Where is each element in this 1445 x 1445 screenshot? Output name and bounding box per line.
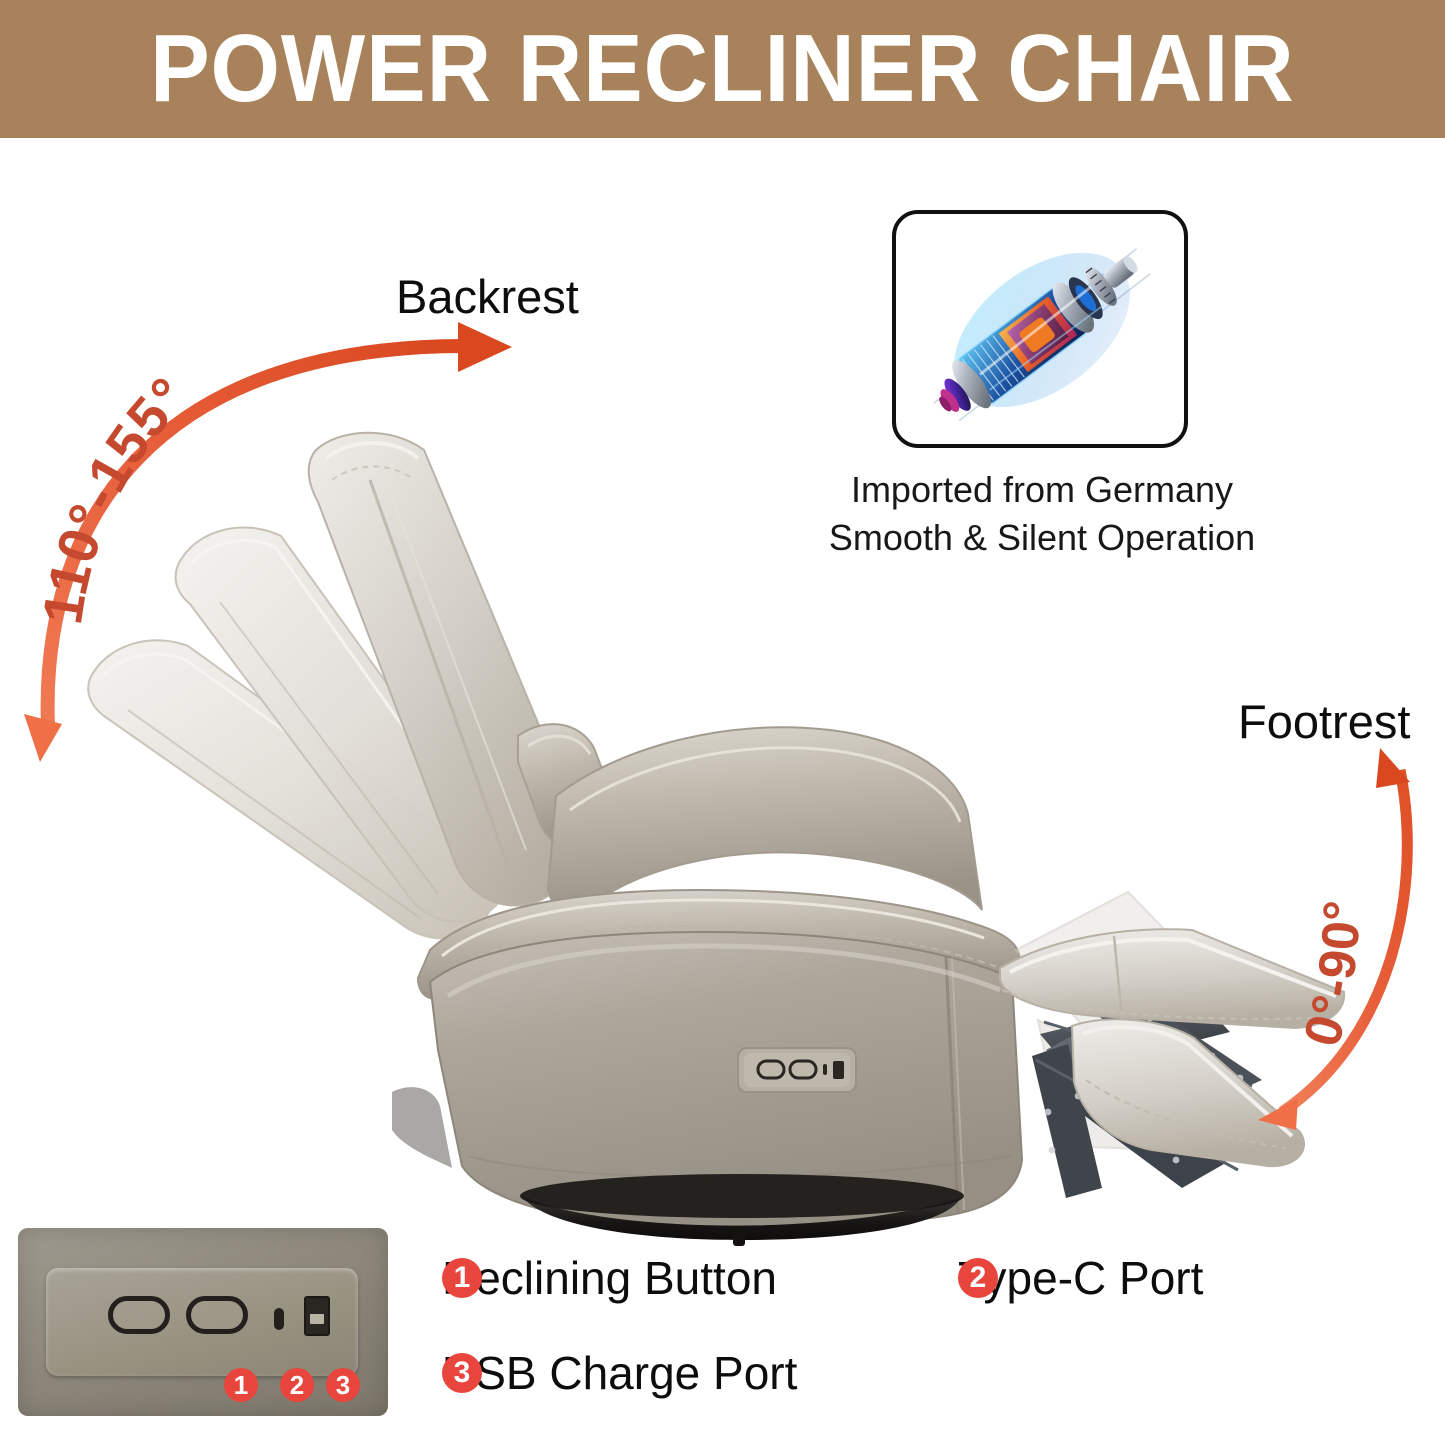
footrest-angle-arc: 0°-90° xyxy=(1210,720,1445,1160)
footrest-arrow-head-bottom xyxy=(1258,1098,1298,1130)
backrest-arrow-head-bottom xyxy=(24,714,62,762)
chair-control-panel xyxy=(738,1048,856,1092)
motor-caption-line-2: Smooth & Silent Operation xyxy=(782,514,1302,562)
legend-badge-1: 1 xyxy=(442,1258,482,1298)
legend-item-reclining-button: 1 Reclining Button xyxy=(442,1255,777,1301)
motor-caption: Imported from Germany Smooth & Silent Op… xyxy=(782,466,1302,561)
footrest-label: Footrest xyxy=(1238,698,1410,745)
panel-callout-1: 1 xyxy=(224,1368,258,1402)
type-c-port-icon[interactable] xyxy=(274,1308,284,1330)
backrest-angle-text: 110°-155° xyxy=(30,364,199,628)
backrest-angle-arc: 110°-155° xyxy=(0,0,640,800)
legend-item-usb-charge-port: 3 USB Charge Port xyxy=(442,1350,797,1396)
footrest-arrow-head-top xyxy=(1376,748,1410,788)
electric-motor-cutaway-icon xyxy=(896,214,1184,444)
control-panel-closeup: 1 2 3 xyxy=(18,1228,388,1416)
panel-callout-2: 2 xyxy=(280,1368,314,1402)
motor-caption-line-1: Imported from Germany xyxy=(782,466,1302,514)
usb-port-icon[interactable] xyxy=(304,1296,330,1336)
legend-item-type-c-port: 2 Type-C Port xyxy=(958,1255,1203,1301)
legend-label-1: Reclining Button xyxy=(442,1255,777,1301)
panel-usb-icon xyxy=(833,1061,844,1079)
legend-label-3: USB Charge Port xyxy=(442,1350,797,1396)
reclining-button-closed-icon[interactable] xyxy=(186,1296,248,1334)
legend-badge-3: 3 xyxy=(442,1353,482,1393)
body-shadow-wedge xyxy=(392,1087,452,1168)
infographic-canvas: POWER RECLINER CHAIR xyxy=(0,0,1445,1445)
panel-typec-icon xyxy=(823,1064,827,1075)
motor-image-box xyxy=(892,210,1188,448)
backrest-label: Backrest xyxy=(396,273,579,320)
reclining-button-open-icon[interactable] xyxy=(108,1296,170,1334)
panel-callout-3: 3 xyxy=(326,1368,360,1402)
swivel-base xyxy=(520,1174,964,1246)
control-panel-face xyxy=(46,1268,358,1376)
backrest-arrow-head-top xyxy=(458,322,512,372)
legend-badge-2: 2 xyxy=(958,1258,998,1298)
